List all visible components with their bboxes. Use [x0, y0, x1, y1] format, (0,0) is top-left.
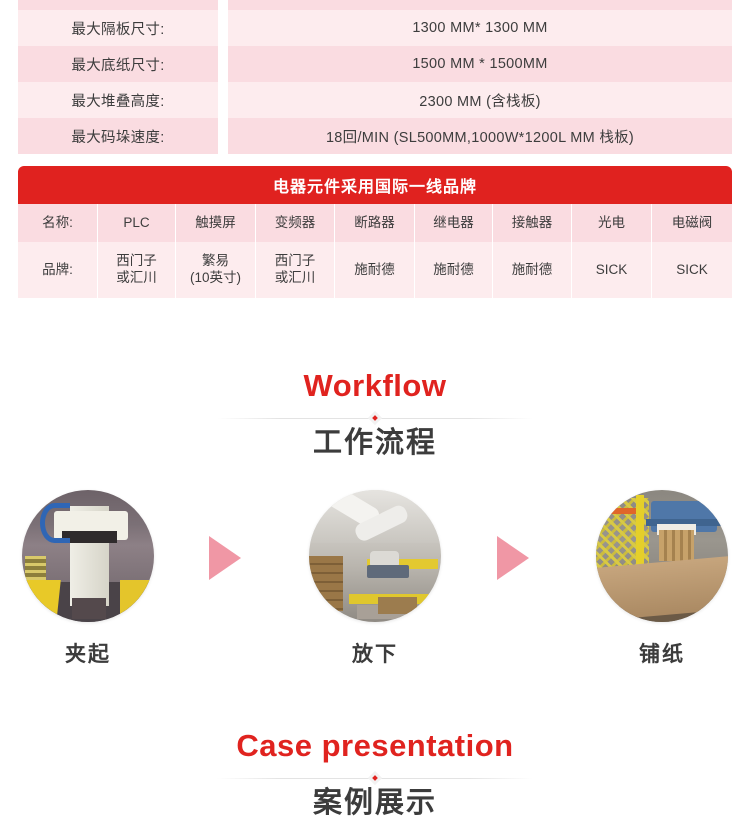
row-header-brand: 品牌:: [18, 242, 98, 298]
step-image-place: [309, 490, 441, 622]
brand-line: 或汇川: [116, 270, 157, 287]
spec-value: 2300 MM (含栈板): [228, 82, 732, 118]
step-label: 铺纸: [596, 638, 728, 668]
workflow-steps: 夹起 放下: [0, 490, 750, 680]
component-brand: 施耐德: [493, 242, 572, 298]
electrical-components-brand-table: 电器元件采用国际一线品牌 名称: PLC 触摸屏 变频器 断路器 继电器 接触器…: [18, 166, 732, 298]
spec-value: 1500 MM * 1500MM: [228, 46, 732, 82]
paper-feeder-photo: [596, 490, 728, 622]
component-brand: 施耐德: [335, 242, 415, 298]
row-header-name: 名称:: [18, 204, 98, 242]
table-row: 最大堆叠高度: 2300 MM (含栈板): [18, 82, 732, 118]
brand-line: 西门子: [275, 253, 316, 270]
heading-chinese: 案例展示: [0, 787, 750, 820]
product-detail-page: 最大夹取高度: 80 MM 最大隔板尺寸: 1300 MM* 1300 MM 最…: [0, 0, 750, 822]
spec-label: 最大隔板尺寸:: [18, 10, 218, 46]
workflow-section-heading: Workflow 工作流程: [0, 370, 750, 460]
spec-label: 最大堆叠高度:: [18, 82, 218, 118]
component-brand: 西门子或汇川: [256, 242, 335, 298]
component-name: 触摸屏: [176, 204, 256, 242]
table-row: 最大底纸尺寸: 1500 MM * 1500MM: [18, 46, 732, 82]
component-brand: 繁易(10英寸): [176, 242, 256, 298]
triangle-right-icon: [209, 536, 241, 580]
brand-table-body: 名称: PLC 触摸屏 变频器 断路器 继电器 接触器 光电 电磁阀 品牌: 西…: [18, 204, 732, 298]
spec-value: 1300 MM* 1300 MM: [228, 10, 732, 46]
component-brand: 西门子或汇川: [98, 242, 176, 298]
brand-line: (10英寸): [190, 270, 241, 287]
table-row: 最大夹取高度: 80 MM: [18, 0, 732, 10]
heading-divider: [217, 412, 533, 424]
brand-table-header: 电器元件采用国际一线品牌: [18, 166, 732, 204]
case-section-heading: Case presentation 案例展示: [0, 730, 750, 820]
workflow-step-1: 夹起: [22, 490, 154, 668]
step-image-clamp: [22, 490, 154, 622]
step-image-paper: [596, 490, 728, 622]
brand-line: SICK: [676, 262, 708, 279]
table-row-brands: 品牌: 西门子或汇川 繁易(10英寸) 西门子或汇川 施耐德 施耐德 施耐德: [18, 242, 732, 298]
brand-line: 施耐德: [433, 262, 474, 279]
component-brand: SICK: [572, 242, 652, 298]
spec-label: 最大夹取高度:: [18, 0, 218, 10]
step-label: 放下: [309, 638, 441, 668]
workflow-step-3: 铺纸: [596, 490, 728, 668]
brand-line: 或汇川: [275, 270, 316, 287]
heading-english: Workflow: [0, 370, 750, 403]
workflow-step-2: 放下: [309, 490, 441, 668]
component-brand: 施耐德: [415, 242, 493, 298]
brand-line: SICK: [596, 262, 628, 279]
brand-line: 施耐德: [512, 262, 553, 279]
spec-label: 最大码垛速度:: [18, 118, 218, 154]
table-row: 最大隔板尺寸: 1300 MM* 1300 MM: [18, 10, 732, 46]
heading-divider: [217, 772, 533, 784]
component-name: 接触器: [493, 204, 572, 242]
heading-english: Case presentation: [0, 730, 750, 763]
component-brand: SICK: [652, 242, 732, 298]
robot-arm-photo: [309, 490, 441, 622]
diamond-icon: [368, 770, 382, 784]
brand-line: 繁易: [190, 253, 241, 270]
component-name: 电磁阀: [652, 204, 732, 242]
component-name: 断路器: [335, 204, 415, 242]
heading-chinese: 工作流程: [0, 427, 750, 460]
spec-value: 18回/MIN (SL500MM,1000W*1200L MM 栈板): [228, 118, 732, 154]
spec-label: 最大底纸尺寸:: [18, 46, 218, 82]
table-row: 最大码垛速度: 18回/MIN (SL500MM,1000W*1200L MM …: [18, 118, 732, 154]
step-label: 夹起: [22, 638, 154, 668]
brand-line: 施耐德: [354, 262, 395, 279]
component-name: PLC: [98, 204, 176, 242]
table-row-names: 名称: PLC 触摸屏 变频器 断路器 继电器 接触器 光电 电磁阀: [18, 204, 732, 242]
triangle-right-icon: [497, 536, 529, 580]
spec-value: 80 MM: [228, 0, 732, 10]
component-name: 变频器: [256, 204, 335, 242]
component-name: 光电: [572, 204, 652, 242]
diamond-icon: [368, 410, 382, 424]
brand-line: 西门子: [116, 253, 157, 270]
component-name: 继电器: [415, 204, 493, 242]
palletizer-machine-photo: [22, 490, 154, 622]
specification-table: 最大夹取高度: 80 MM 最大隔板尺寸: 1300 MM* 1300 MM 最…: [18, 0, 732, 154]
